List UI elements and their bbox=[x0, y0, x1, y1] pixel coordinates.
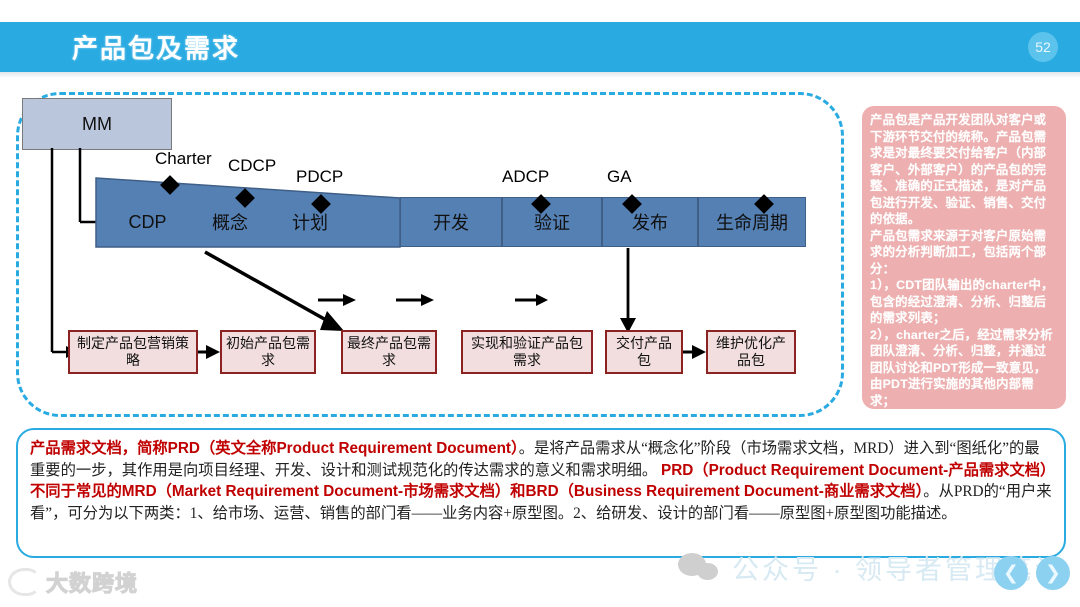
brand-logo-icon bbox=[8, 568, 40, 596]
note-paragraph-4: 2），charter之后，经过需求分析团队澄清、分析、归整，并通过团队讨论和PD… bbox=[870, 327, 1058, 410]
stage-release[interactable]: 发布 bbox=[602, 197, 698, 247]
stage-plan[interactable]: 计划 bbox=[270, 197, 350, 247]
prev-slide-button[interactable]: ❮ bbox=[994, 556, 1028, 590]
next-slide-button[interactable]: ❯ bbox=[1036, 556, 1070, 590]
stage-develop[interactable]: 开发 bbox=[400, 197, 502, 247]
milestone-label-pdcp: PDCP bbox=[296, 167, 343, 187]
stage-cdp[interactable]: CDP bbox=[105, 197, 190, 247]
process-box-maintain-optimize[interactable]: 维护优化产品包 bbox=[706, 330, 796, 374]
milestone-label-charter: Charter bbox=[155, 149, 212, 169]
note-paragraph-3: 1），CDT团队输出的charter中，包含的经过澄清、分析、归整后的需求列表； bbox=[870, 277, 1058, 327]
header-shadow bbox=[0, 72, 1080, 78]
wechat-icon bbox=[678, 553, 722, 583]
page-number-badge: 52 bbox=[1028, 32, 1058, 62]
watermark-left: 大数跨境 bbox=[8, 566, 138, 598]
milestone-label-ga: GA bbox=[607, 167, 632, 187]
process-box-deliver[interactable]: 交付产品包 bbox=[605, 330, 683, 374]
navigation-arrows[interactable]: ❮ ❯ bbox=[994, 556, 1070, 590]
watermark-left-text: 大数跨境 bbox=[46, 566, 138, 598]
mm-box: MM bbox=[22, 98, 172, 150]
note-panel: 产品包是产品开发团队对客户或下游环节交付的统称。产品包需求是对最终要交付给客户（… bbox=[862, 106, 1066, 409]
stage-concept[interactable]: 概念 bbox=[190, 197, 270, 247]
slide: 产品包及需求 52 MM bbox=[0, 0, 1080, 607]
process-box-final-requirements[interactable]: 最终产品包需求 bbox=[341, 330, 437, 374]
process-box-marketing-strategy[interactable]: 制定产品包营销策略 bbox=[68, 330, 198, 374]
prd-explanation-block: 产品需求文档，简称PRD（英文全称Product Requirement Doc… bbox=[16, 428, 1066, 558]
milestone-label-adcp: ADCP bbox=[502, 167, 549, 187]
stage-verify[interactable]: 验证 bbox=[502, 197, 602, 247]
slide-header: 产品包及需求 52 bbox=[0, 22, 1080, 72]
lifecycle-stage-bar: CDP 概念 计划 开发 验证 发布 生命周期 bbox=[95, 197, 806, 247]
stage-lifecycle[interactable]: 生命周期 bbox=[698, 197, 806, 247]
process-box-initial-requirements[interactable]: 初始产品包需求 bbox=[220, 330, 316, 374]
process-box-implement-verify[interactable]: 实现和验证产品包需求 bbox=[461, 330, 593, 374]
prd-definition-red-1: 产品需求文档，简称PRD（英文全称Product Requirement Doc… bbox=[30, 440, 519, 457]
note-paragraph-2: 产品包需求来源于对客户原始需求的分析判断加工，包括两个部分： bbox=[870, 228, 1058, 278]
milestone-label-cdcp: CDCP bbox=[228, 156, 276, 176]
page-title: 产品包及需求 bbox=[72, 29, 240, 66]
note-paragraph-1: 产品包是产品开发团队对客户或下游环节交付的统称。产品包需求是对最终要交付给客户（… bbox=[870, 112, 1058, 228]
